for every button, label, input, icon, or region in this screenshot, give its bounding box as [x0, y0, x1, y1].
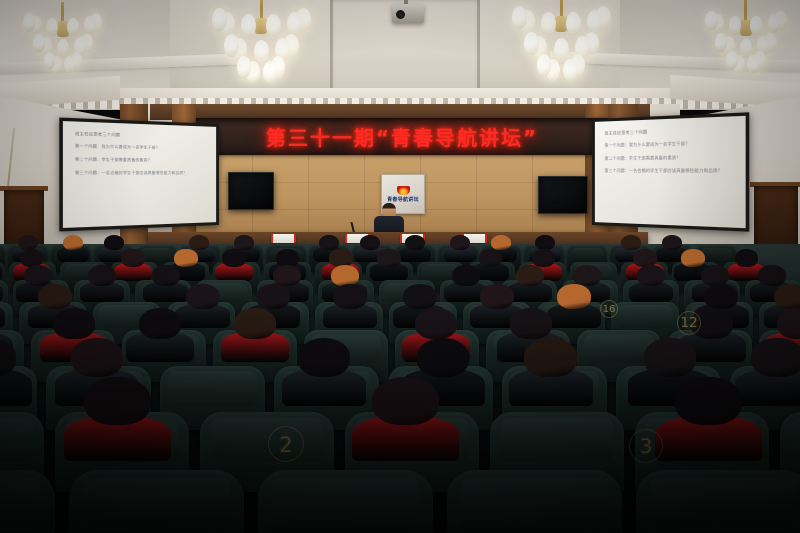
chandelier-bulb — [57, 39, 69, 57]
audience-seating-area — [0, 244, 800, 533]
chandelier-4 — [700, 0, 792, 72]
audience-head — [417, 338, 470, 376]
audience-head — [333, 284, 367, 309]
audience-head — [573, 265, 601, 286]
audience-member — [452, 265, 480, 297]
audience-head — [88, 265, 116, 286]
auditorium-seat[interactable] — [258, 470, 433, 533]
chandelier-bulb — [67, 18, 79, 36]
chandelier-bulb — [212, 8, 227, 31]
audience-head — [415, 308, 457, 339]
tv-monitor-right — [538, 176, 588, 214]
audience-head — [186, 284, 220, 309]
audience-head — [152, 265, 180, 286]
chandelier-1 — [205, 0, 317, 82]
audience-head — [38, 284, 72, 309]
audience-head — [704, 284, 738, 309]
audience-head — [735, 249, 759, 267]
audience-member — [63, 235, 83, 258]
audience-member — [480, 284, 514, 322]
auditorium-seat[interactable] — [0, 470, 55, 533]
audience-head — [403, 284, 437, 309]
chandelier-bulb — [44, 52, 55, 70]
slide-title-right: 班主任应思考三个问题 — [605, 126, 738, 136]
audience-head — [331, 265, 359, 286]
audience-member — [298, 338, 351, 396]
chandelier-bulb — [537, 54, 551, 76]
audience-head — [491, 235, 511, 251]
audience-head — [662, 235, 682, 251]
projector-lens-icon — [396, 10, 405, 19]
auditorium-seat[interactable] — [447, 470, 622, 533]
audience-head — [452, 265, 480, 286]
chandelier-bulb — [747, 55, 758, 73]
slide-line-left-2: 第二个问题：学生干部需要具备的素质？ — [75, 157, 209, 164]
audience-member — [524, 338, 577, 396]
chandelier-bulb — [715, 33, 727, 52]
audience-member — [516, 265, 544, 297]
audience-head — [510, 308, 552, 339]
chandelier-bulb — [726, 51, 737, 69]
chandelier-bulb — [241, 14, 256, 37]
led-banner-text: 第三十一期“青春导航讲坛” — [266, 122, 538, 151]
audience-head — [71, 338, 124, 376]
audience-head — [63, 235, 83, 251]
cyl-emblem-icon — [397, 186, 410, 195]
audience-member — [637, 265, 665, 297]
audience-member — [222, 249, 246, 276]
audience-member — [751, 338, 800, 396]
tv-monitor-left — [228, 172, 274, 210]
chandelier-bulb — [512, 6, 527, 29]
audience-head — [535, 235, 555, 251]
led-banner: 第三十一期“青春导航讲坛” — [196, 118, 608, 155]
audience-head — [774, 284, 800, 309]
chandelier-bulb — [566, 12, 581, 35]
projection-screen-left: 班主任应思考三个问题 第一个问题：我为什么要成为一名学生干部？ 第二个问题：学生… — [59, 118, 219, 232]
chandelier-bulb — [237, 56, 251, 78]
audience-head — [234, 235, 254, 251]
chandelier-3 — [505, 0, 617, 80]
audience-member — [479, 249, 503, 276]
chandelier-bulb — [84, 16, 96, 34]
slide-title-left: 班主任应思考三个问题 — [75, 132, 209, 141]
audience-member — [735, 249, 759, 276]
audience-head — [256, 284, 290, 309]
chandelier-bulb — [541, 12, 556, 35]
audience-head — [480, 284, 514, 309]
audience-member — [405, 235, 425, 258]
audience-head — [139, 308, 181, 339]
seat-number-badge: 16 — [600, 300, 618, 318]
chandelier-hub — [555, 16, 567, 32]
audience-head — [524, 338, 577, 376]
chandelier-bulb — [705, 11, 717, 30]
auditorium-seat[interactable] — [636, 470, 800, 533]
audience-head — [298, 338, 351, 376]
projection-screen-left-surface: 班主任应思考三个问题 第一个问题：我为什么要成为一名学生干部？ 第二个问题：学生… — [63, 121, 216, 228]
chandelier-bulb — [740, 38, 752, 57]
audience-head — [557, 284, 591, 309]
audience-head — [777, 308, 800, 339]
audience-head — [644, 338, 697, 376]
projection-screen-right-surface: 班主任应思考三个问题 第一个问题：我为什么要成为一名学生干部？ 第二个问题：学生… — [595, 116, 746, 228]
audience-head — [701, 265, 729, 286]
audience-member — [377, 249, 401, 276]
audience-head — [621, 235, 641, 251]
audience-member — [186, 284, 220, 322]
audience-member — [557, 284, 591, 322]
chandelier-bulb — [750, 16, 762, 35]
audience-head — [234, 308, 276, 339]
audience-head — [84, 377, 151, 425]
audience-head — [377, 249, 401, 267]
chandelier-bulb — [768, 14, 780, 33]
seat-number-badge: 2 — [268, 426, 304, 462]
audience-head — [450, 235, 470, 251]
audience-member — [152, 265, 180, 297]
projection-screen-right: 班主任应思考三个问题 第一个问题：我为什么要成为一名学生干部？ 第二个问题：学生… — [592, 112, 749, 231]
audience-head — [516, 265, 544, 286]
chandelier-2 — [18, 2, 108, 72]
audience-member — [372, 377, 439, 449]
chandelier-bulb — [563, 59, 577, 81]
ceiling-projector — [392, 4, 424, 23]
chandelier-bulb — [33, 34, 45, 52]
audience-member — [234, 308, 276, 355]
name-card-4 — [271, 234, 296, 243]
audience-head — [104, 235, 124, 251]
chandelier-bulb — [254, 40, 269, 63]
audience-head — [189, 235, 209, 251]
chandelier-bulb — [266, 14, 281, 37]
audience-head — [222, 249, 246, 267]
audience-head — [121, 249, 145, 267]
audience-head — [479, 249, 503, 267]
chandelier-bulb — [554, 38, 569, 61]
chandelier-bulb — [64, 56, 75, 74]
seat-number-badge: 3 — [629, 429, 663, 463]
audience-head — [372, 377, 439, 425]
audience-head — [637, 265, 665, 286]
audience-head — [405, 235, 425, 251]
auditorium-seat[interactable] — [69, 470, 244, 533]
audience-member — [84, 377, 151, 449]
audience-member — [333, 284, 367, 322]
slide-line-left-1: 第一个问题：我为什么要成为一名学生干部？ — [75, 144, 209, 152]
audience-head — [53, 308, 95, 339]
slide-line-right-1: 第一个问题：我为什么要成为一名学生干部？ — [605, 140, 738, 149]
audience-head — [751, 338, 800, 376]
auditorium-photo: 第三十一期“青春导航讲坛” 青春导航讲坛 班主任应思考三个问题 第一个问题：我为… — [0, 0, 800, 533]
podium-sign-text: 青春导航讲坛 — [387, 196, 419, 203]
audience-member — [0, 338, 16, 396]
audience-head — [319, 235, 339, 251]
audience-member — [450, 235, 470, 258]
audience-member — [139, 308, 181, 355]
audience-head — [675, 377, 742, 425]
audience-member — [675, 377, 742, 449]
audience-head — [360, 235, 380, 251]
audience-head — [758, 265, 786, 286]
seat-number-badge: 12 — [677, 311, 701, 335]
chandelier-bulb — [524, 32, 539, 55]
slide-line-right-2: 第二个问题：学生干部需要具备的素质？ — [605, 154, 738, 161]
audience-member — [662, 235, 682, 258]
audience-head — [273, 265, 301, 286]
chandelier-hub — [255, 18, 267, 34]
audience-head — [18, 235, 38, 251]
chandelier-bulb — [263, 61, 277, 83]
slide-line-left-3: 第三个问题：一名合格的学生干部应该具备哪些能力和品质？ — [75, 171, 209, 177]
audience-head — [24, 265, 52, 286]
audience-member — [88, 265, 116, 297]
chandelier-bulb — [224, 34, 239, 57]
slide-line-right-3: 第三个问题：一名合格的学生干部应该具备哪些能力和品质？ — [605, 168, 738, 174]
chandelier-stem — [260, 0, 263, 20]
audience-member — [121, 249, 145, 276]
chandelier-bulb — [23, 13, 35, 31]
